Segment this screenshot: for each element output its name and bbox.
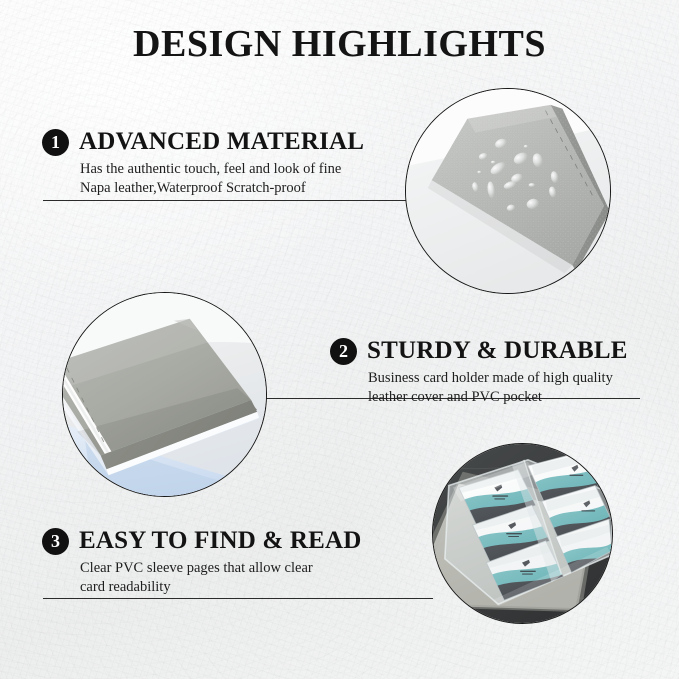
highlight-2-body-line2: leather cover and PVC pocket	[368, 388, 628, 407]
highlight-block-1: 1 ADVANCED MATERIAL Has the authentic to…	[42, 128, 364, 198]
connector-rule-1	[43, 200, 408, 201]
highlight-1-body: Has the authentic touch, feel and look o…	[80, 160, 364, 198]
highlight-1-header-row: 1 ADVANCED MATERIAL	[42, 128, 364, 156]
highlight-block-2: 2 STURDY & DURABLE Business card holder …	[330, 337, 628, 407]
photo-circle-closed-card-holder	[62, 292, 267, 497]
highlight-2-body-line1: Business card holder made of high qualit…	[368, 370, 613, 386]
page-title: DESIGN HIGHLIGHTS	[0, 22, 679, 66]
highlight-2-header-row: 2 STURDY & DURABLE	[330, 337, 628, 365]
closed-card-holder-image	[63, 293, 266, 496]
highlight-block-3: 3 EASY TO FIND & READ Clear PVC sleeve p…	[42, 527, 362, 597]
highlight-3-body-line2: card readability	[80, 578, 362, 597]
highlight-2-number-badge: 2	[330, 338, 357, 365]
highlight-2-heading: STURDY & DURABLE	[367, 337, 628, 365]
connector-rule-3	[43, 598, 433, 599]
photo-circle-pvc-sleeve-pages	[432, 443, 613, 624]
design-highlights-poster: DESIGN HIGHLIGHTS 1 ADVANCED MATERIAL Ha…	[0, 0, 679, 679]
highlight-3-body: Clear PVC sleeve pages that allow clear …	[80, 559, 362, 597]
photo-circle-waterproof-leather	[405, 88, 611, 294]
highlight-3-body-line1: Clear PVC sleeve pages that allow clear	[80, 560, 313, 576]
waterproof-leather-image	[406, 89, 610, 293]
highlight-3-number-badge: 3	[42, 528, 69, 555]
highlight-1-body-line2: Napa leather,Waterproof Scratch-proof	[80, 179, 364, 198]
highlight-3-heading: EASY TO FIND & READ	[79, 527, 362, 555]
highlight-3-header-row: 3 EASY TO FIND & READ	[42, 527, 362, 555]
highlight-1-number-badge: 1	[42, 129, 69, 156]
highlight-1-heading: ADVANCED MATERIAL	[79, 128, 364, 156]
highlight-2-body: Business card holder made of high qualit…	[368, 369, 628, 407]
pvc-sleeve-pages-image	[433, 444, 612, 623]
highlight-1-body-line1: Has the authentic touch, feel and look o…	[80, 161, 341, 177]
